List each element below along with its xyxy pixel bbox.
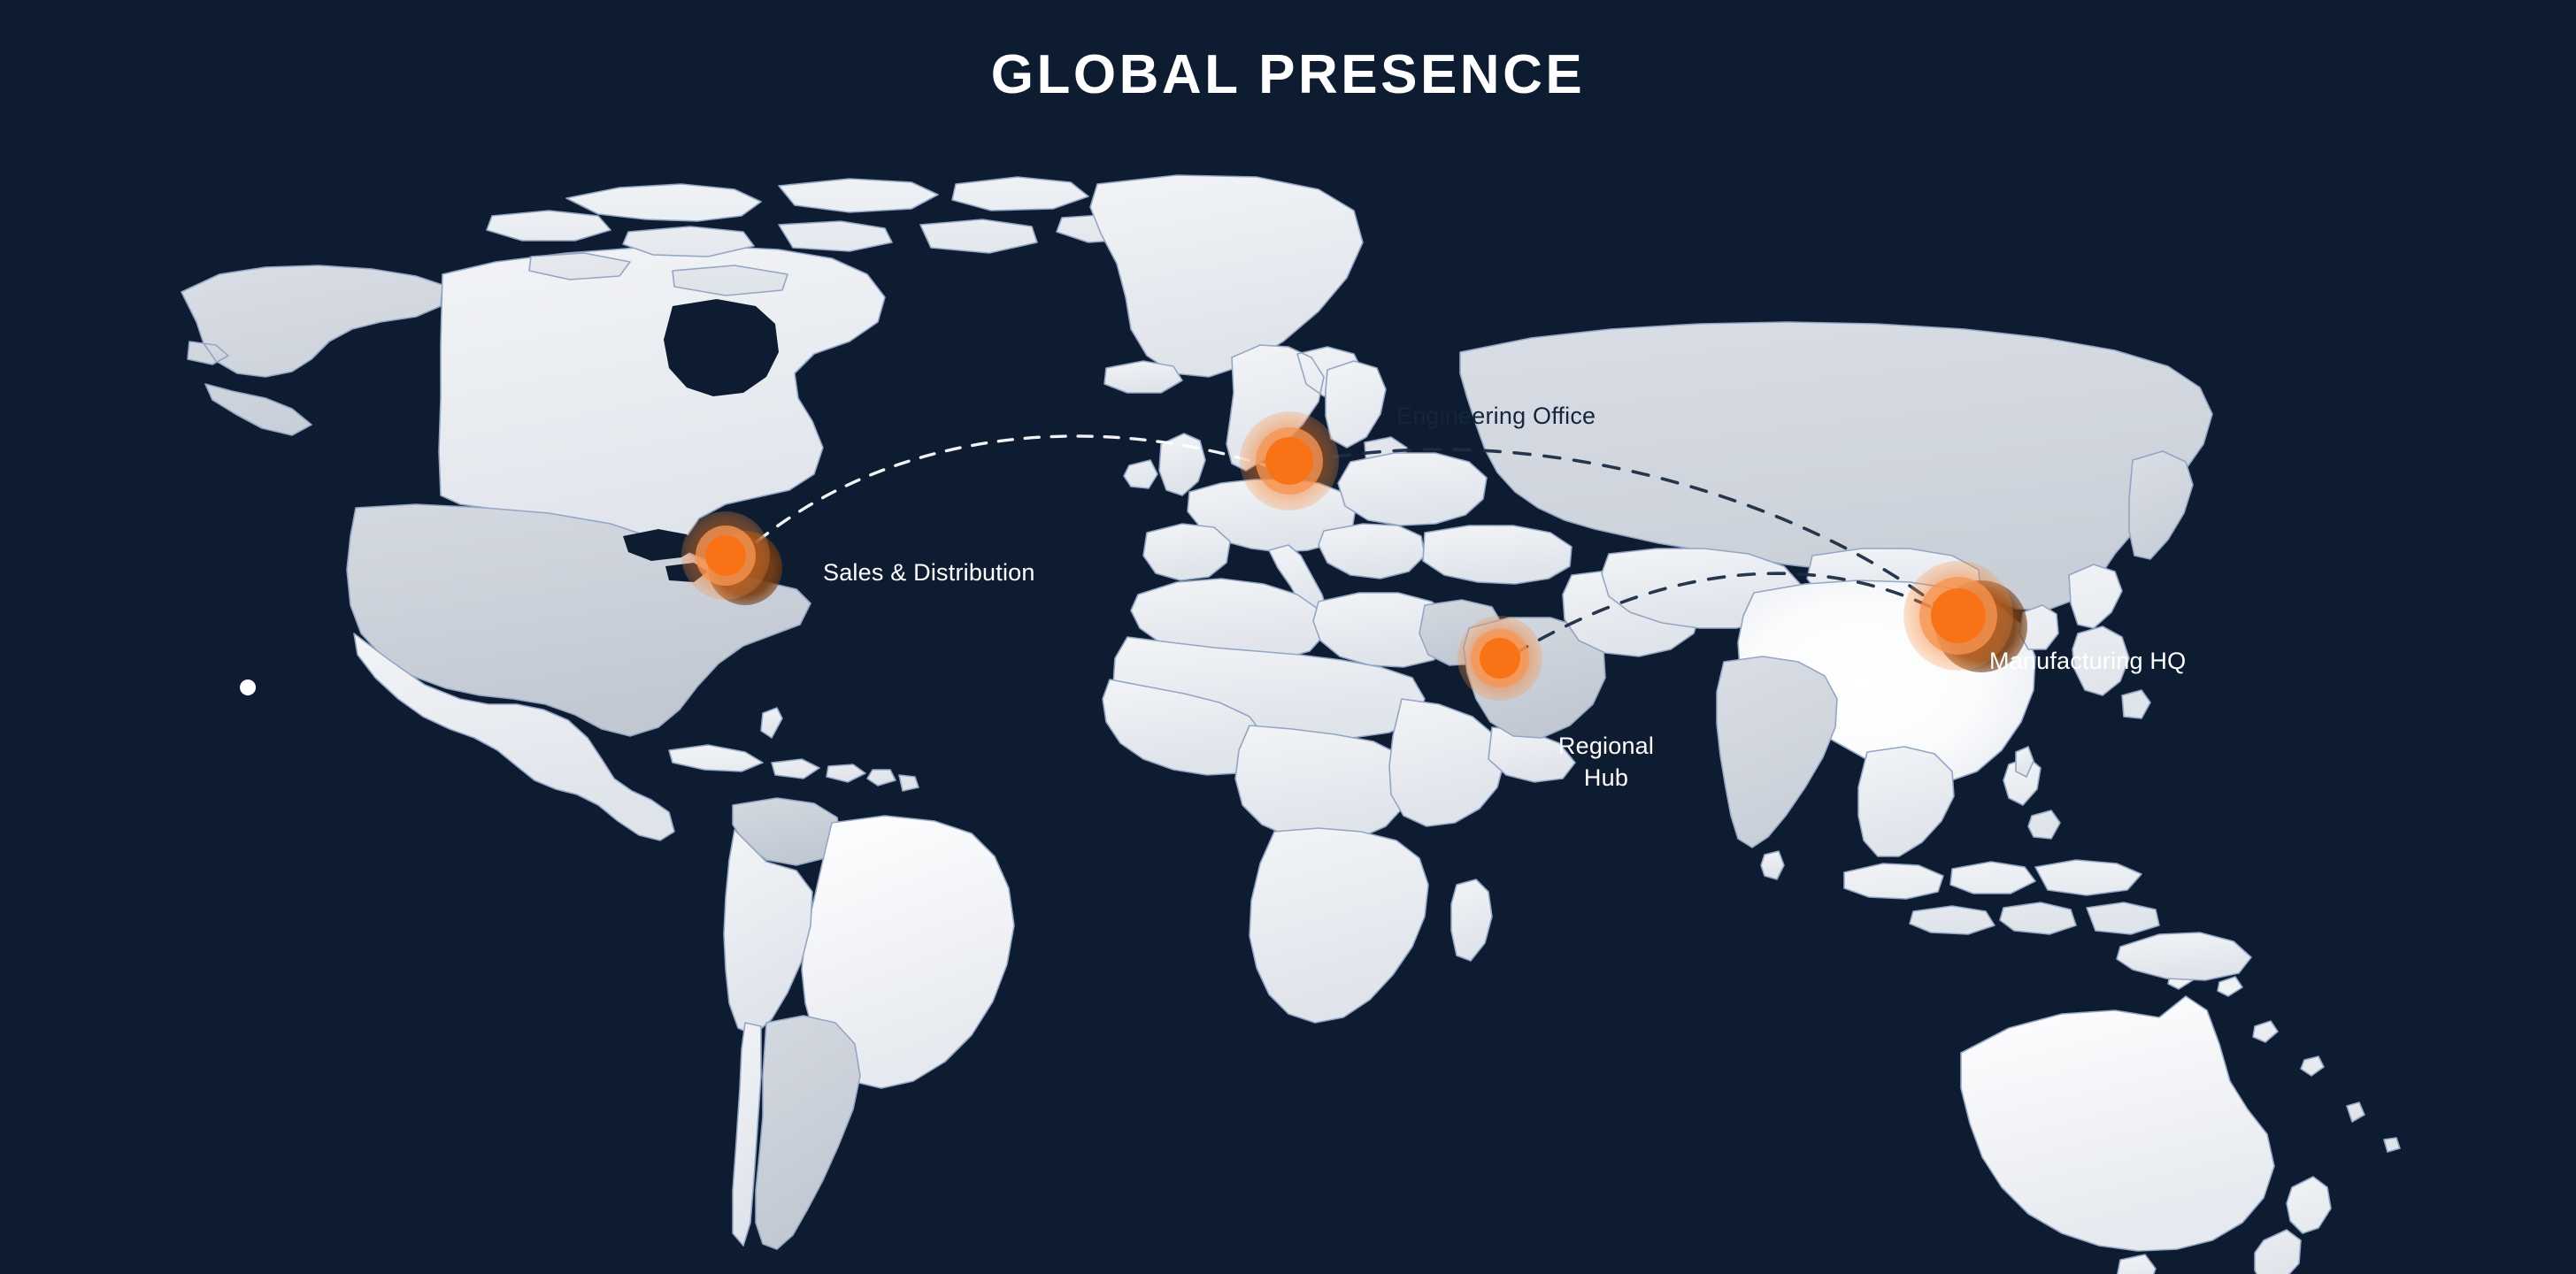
- country-balkans: [1319, 524, 1425, 579]
- islands-caribbean: [669, 745, 919, 791]
- marker-label-regional-hub: Regional Hub: [1558, 731, 1654, 794]
- marker-core-manufacturing-hq: [1931, 588, 1986, 643]
- country-iceland: [1104, 361, 1182, 393]
- marker-label-manufacturing-hq: Manufacturing HQ: [1989, 646, 2186, 678]
- country-iberia: [1143, 524, 1230, 580]
- marker-label-sales-distribution: Sales & Distribution: [823, 557, 1035, 589]
- country-southern-africa: [1250, 828, 1428, 1023]
- landmass-group: [181, 175, 2400, 1274]
- world-map: [0, 133, 2576, 1274]
- island-hawaii-dot: [240, 679, 256, 695]
- islands-bahamas: [761, 708, 782, 738]
- world-map-svg: [0, 133, 2576, 1274]
- islands-indonesia: [1844, 860, 2159, 934]
- islands-philippines: [2003, 757, 2060, 839]
- marker-label-engineering-office: Engineering Office: [1396, 401, 1596, 433]
- country-australia: [1961, 996, 2274, 1251]
- marker-core-sales-distribution: [705, 535, 746, 576]
- island-tasmania: [2117, 1255, 2156, 1274]
- island-new-guinea: [2117, 932, 2251, 980]
- country-turkey-caucasus: [1423, 526, 1572, 584]
- country-madagascar: [1451, 879, 1492, 961]
- country-eastern-europe: [1338, 453, 1487, 526]
- island-sri-lanka: [1761, 851, 1784, 879]
- country-central-africa: [1235, 725, 1412, 842]
- country-india: [1717, 656, 1837, 848]
- global-presence-map-panel: GLOBAL PRESENCE: [0, 0, 2576, 1274]
- page-title: GLOBAL PRESENCE: [0, 46, 2576, 104]
- marker-core-engineering-office: [1265, 437, 1313, 485]
- marker-core-regional-hub: [1480, 638, 1520, 679]
- country-se-asia: [1858, 747, 1954, 856]
- country-alaska: [181, 265, 442, 435]
- country-kamchatka: [2129, 451, 2193, 559]
- country-greenland: [1090, 175, 1363, 377]
- country-argentina-chile: [756, 1016, 860, 1249]
